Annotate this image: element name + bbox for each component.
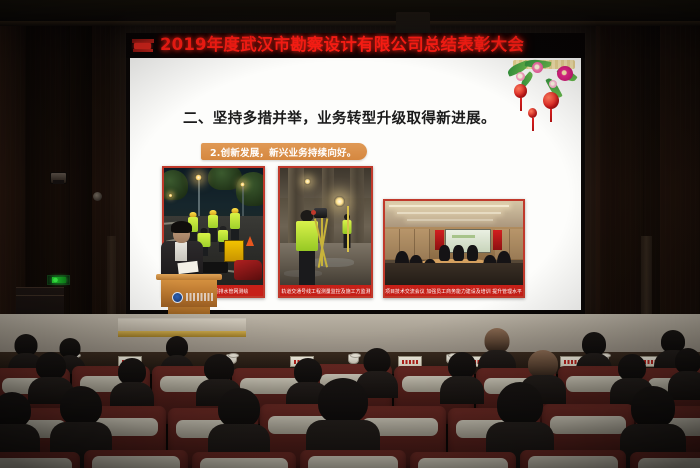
equipment-bag	[234, 260, 262, 280]
presenter-at-podium	[156, 218, 222, 320]
equipment-case	[224, 240, 244, 262]
photo-caption-text: 项目技术交流会议 加强员工商务能力建设及培训 提升管理水平	[386, 288, 523, 295]
slide-title-banner: 2019年度武汉市勘察设计有限公司总结表彰大会	[126, 33, 585, 58]
seat-headrest	[0, 458, 72, 468]
photo-caption-bar: 轨道交通号线工程测量监控及施工方监测	[278, 285, 373, 298]
photo-tunnel-survey: 轨道交通号线工程测量监控及施工方监测	[278, 166, 373, 298]
auditorium-photo: 2019年度武汉市勘察设计有限公司总结表彰大会 二、坚持多措并举，业务转型升级取…	[0, 0, 700, 468]
wall-panel	[596, 0, 644, 350]
survey-staff-rod	[346, 206, 349, 252]
wall-mounted-speaker	[50, 172, 67, 184]
wall-light-fixture	[93, 192, 102, 201]
slide-title-text: 2019年度武汉市勘察设计有限公司总结表彰大会	[160, 37, 524, 54]
seat-headrest	[528, 456, 618, 468]
presenter-hair	[171, 221, 192, 233]
wall-panel	[660, 0, 700, 350]
seat-headrest	[200, 458, 288, 468]
company-logo	[131, 38, 155, 54]
survey-worker	[228, 208, 242, 244]
seat-headrest	[550, 416, 626, 434]
photo-caption-bar: 项目技术交流会议 加强员工商务能力建设及培训 提升管理水平	[383, 285, 525, 298]
emergency-exit-sign	[47, 275, 70, 285]
audience-member	[440, 352, 484, 404]
slide-section-badge-text: 2.创新发展，新兴业务持续向好。	[210, 145, 356, 159]
audience-member	[110, 358, 154, 408]
podium-emblem	[172, 292, 183, 303]
traffic-cone	[246, 236, 254, 246]
seat-headrest	[308, 456, 398, 468]
seat-headrest	[418, 458, 508, 468]
ceiling-beam	[0, 21, 700, 26]
stage-step	[118, 318, 246, 331]
presenter-shirt	[175, 242, 187, 261]
photo-caption-text: 轨道交通号线工程测量监控及施工方监测	[281, 288, 370, 295]
slide-section-badge: 2.创新发展，新兴业务持续向好。	[201, 143, 367, 160]
survey-tripod	[310, 218, 334, 268]
festive-lantern-flower-ornament	[489, 58, 581, 140]
photo-conference-meeting: 项目技术交流会议 加强员工商务能力建设及培训 提升管理水平	[383, 199, 525, 298]
seat-headrest	[638, 458, 700, 468]
exit-running-man-icon	[52, 277, 66, 283]
slide-heading-text: 二、坚持多措并举，业务转型升级取得新进展。	[183, 107, 496, 128]
total-station-instrument	[314, 208, 327, 218]
podium-nameplate-text	[186, 293, 214, 301]
chinese-flag	[493, 230, 502, 250]
seat-headrest	[92, 456, 180, 468]
